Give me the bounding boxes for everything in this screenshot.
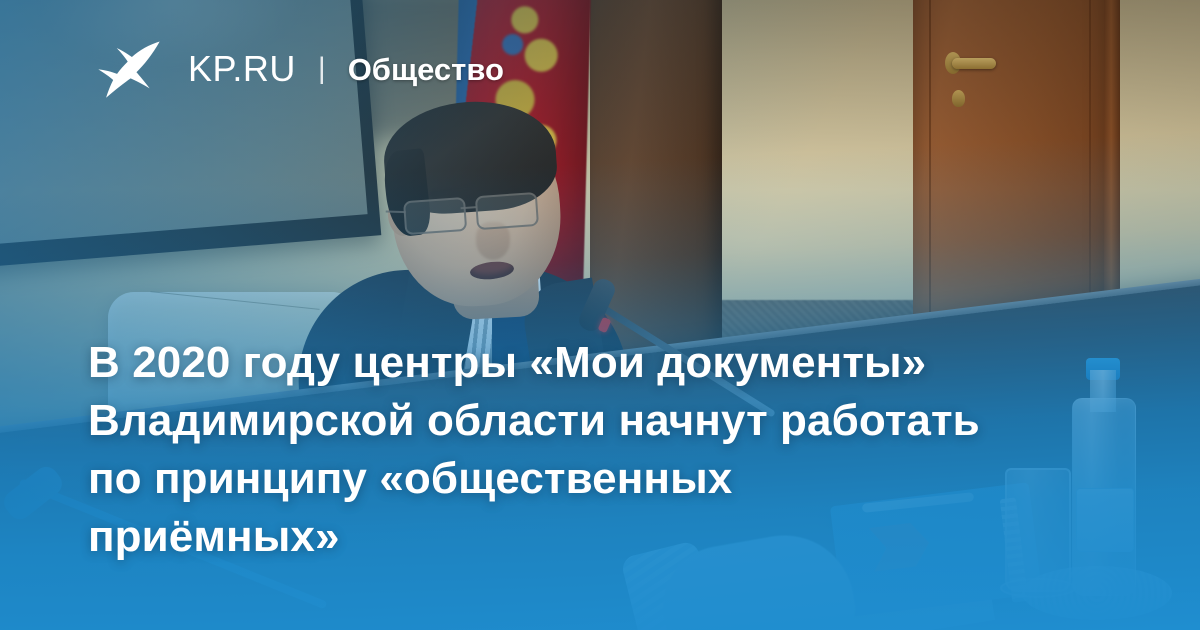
kp-swallow-bird-icon[interactable] bbox=[96, 38, 162, 100]
headline-line-4: приёмных» bbox=[88, 508, 1098, 566]
card-header: KP.RU | Общество bbox=[96, 38, 504, 100]
headline-line-3: по принципу «общественных bbox=[88, 450, 1098, 508]
rubric-label[interactable]: Общество bbox=[348, 54, 504, 85]
header-separator: | bbox=[318, 54, 326, 84]
headline: В 2020 году центры «Мои документы» Влади… bbox=[88, 334, 1098, 566]
headline-line-1: В 2020 году центры «Мои документы» bbox=[88, 334, 1098, 392]
headline-line-2: Владимирской области начнут работать bbox=[88, 392, 1098, 450]
social-share-card: KP.RU | Общество В 2020 году центры «Мои… bbox=[0, 0, 1200, 630]
brand-label[interactable]: KP.RU bbox=[188, 51, 296, 87]
